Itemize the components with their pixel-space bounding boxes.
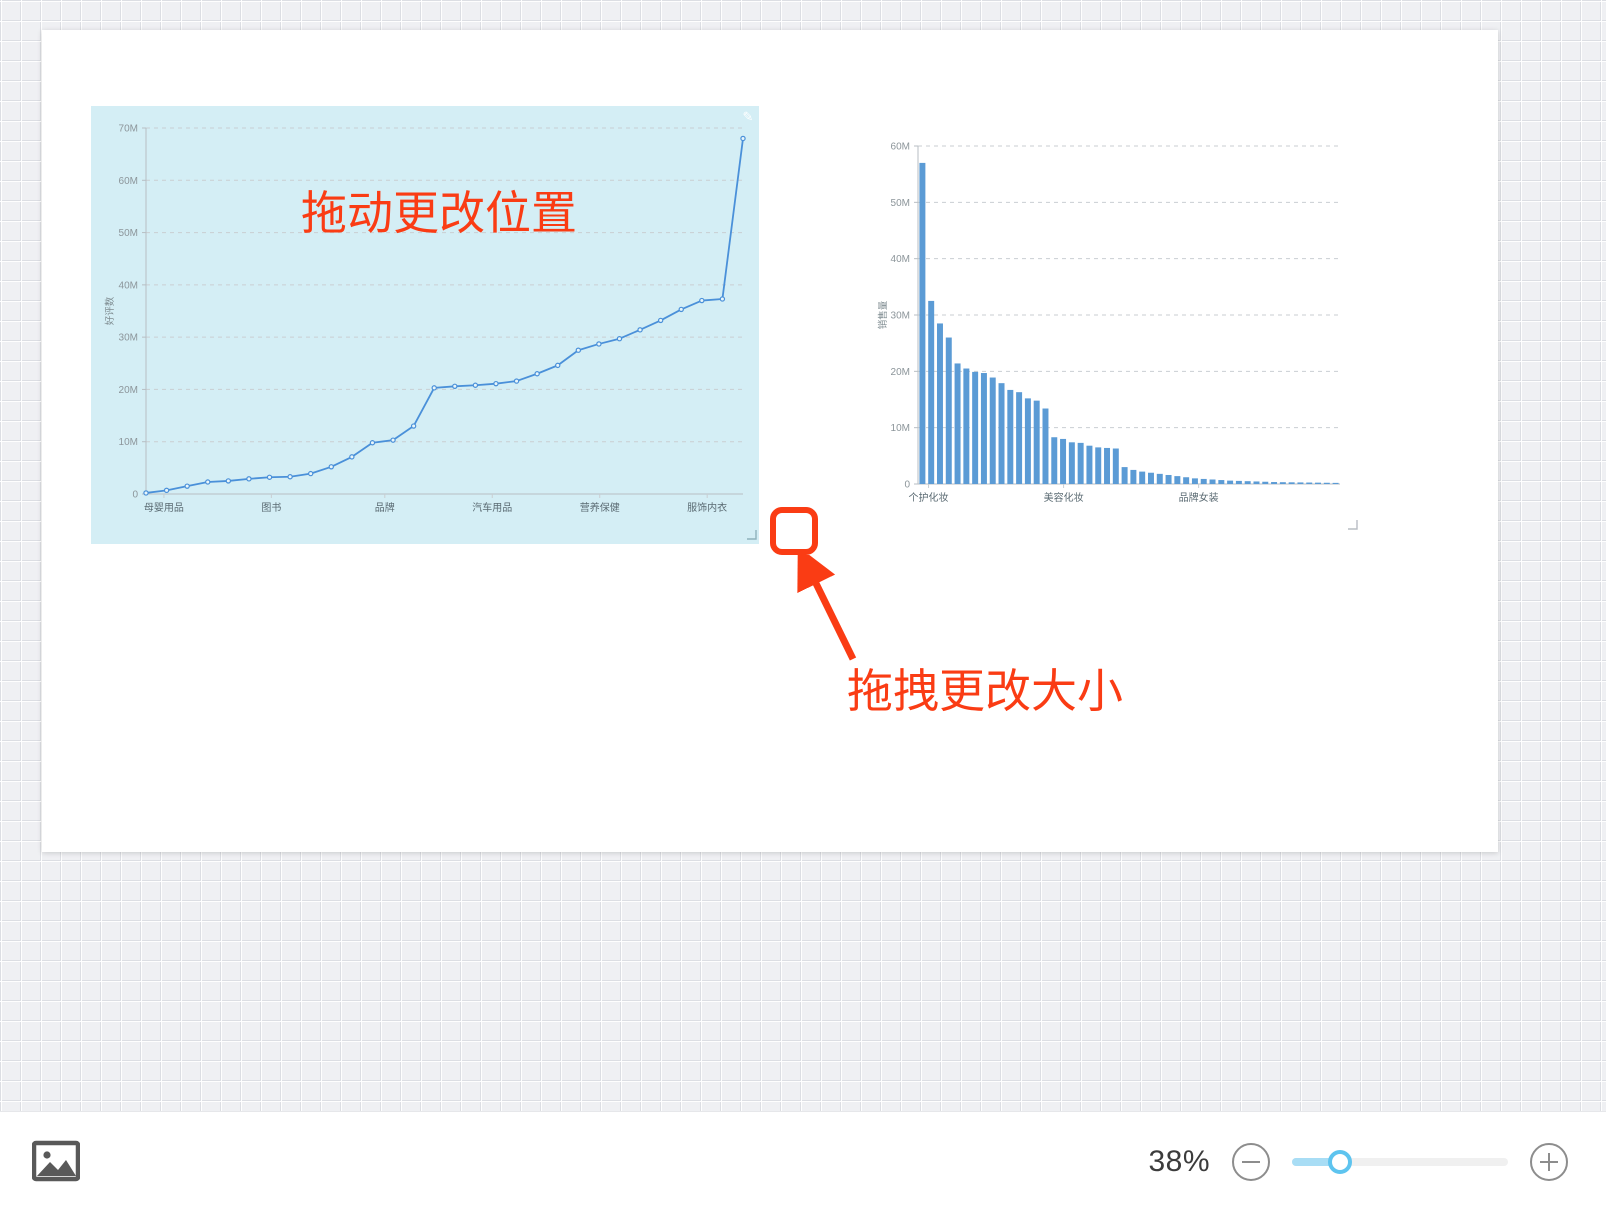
annotation-arrow xyxy=(797,555,867,665)
zoom-in-button[interactable] xyxy=(1530,1143,1568,1181)
zoom-slider[interactable] xyxy=(1292,1158,1508,1166)
canvas-page[interactable]: 010M20M30M40M50M60M70M好评数母婴用品图书品牌汽车用品营养保… xyxy=(42,30,1498,852)
image-glyph xyxy=(32,1139,80,1183)
whiteboard-app: 010M20M30M40M50M60M70M好评数母婴用品图书品牌汽车用品营养保… xyxy=(0,0,1606,1212)
svg-text:60M: 60M xyxy=(119,176,138,187)
chart-widget-line-selected[interactable]: 010M20M30M40M50M60M70M好评数母婴用品图书品牌汽车用品营养保… xyxy=(91,106,759,544)
bar-chart-plot: 010M20M30M40M50M60M销售量个护化妆美容化妆品牌女装 xyxy=(860,116,1360,534)
canvas-area[interactable]: 010M20M30M40M50M60M70M好评数母婴用品图书品牌汽车用品营养保… xyxy=(0,0,1606,1112)
resize-corner-icon xyxy=(745,528,757,540)
svg-text:销售量: 销售量 xyxy=(877,300,889,329)
resize-handle[interactable] xyxy=(743,528,757,542)
resize-handle-highlight-box xyxy=(770,507,818,555)
svg-text:汽车用品: 汽车用品 xyxy=(472,501,512,514)
zoom-slider-handle[interactable] xyxy=(1328,1150,1352,1174)
bar-chart-svg: 010M20M30M40M50M60M销售量个护化妆美容化妆品牌女装 xyxy=(860,116,1360,534)
zoom-out-button[interactable] xyxy=(1232,1143,1270,1181)
svg-text:母婴用品: 母婴用品 xyxy=(144,502,184,514)
svg-text:服饰内衣: 服饰内衣 xyxy=(687,501,727,514)
line-chart-svg: 010M20M30M40M50M60M70M好评数母婴用品图书品牌汽车用品营养保… xyxy=(91,106,759,544)
svg-text:30M: 30M xyxy=(119,333,138,344)
svg-text:50M: 50M xyxy=(891,198,910,209)
annotation-drag-to-move: 拖动更改位置 xyxy=(301,177,577,243)
svg-text:20M: 20M xyxy=(891,367,910,378)
svg-text:10M: 10M xyxy=(891,423,910,434)
svg-text:40M: 40M xyxy=(891,254,910,265)
svg-text:0: 0 xyxy=(132,490,138,501)
annotation-drag-to-resize: 拖拽更改大小 xyxy=(847,655,1123,721)
svg-text:图书: 图书 xyxy=(261,502,281,514)
svg-text:20M: 20M xyxy=(119,385,138,396)
resize-corner-icon xyxy=(1346,518,1358,530)
bottom-toolbar: 38% xyxy=(0,1111,1606,1212)
svg-text:好评数: 好评数 xyxy=(104,296,116,325)
image-icon[interactable] xyxy=(32,1139,80,1183)
zoom-percent-label: 38% xyxy=(1148,1145,1210,1179)
svg-text:50M: 50M xyxy=(119,228,138,239)
svg-text:营养保健: 营养保健 xyxy=(580,501,620,514)
svg-text:品牌女装: 品牌女装 xyxy=(1179,491,1219,504)
svg-text:0: 0 xyxy=(904,480,910,491)
svg-text:10M: 10M xyxy=(119,437,138,448)
svg-text:70M: 70M xyxy=(119,124,138,135)
svg-text:美容化妆: 美容化妆 xyxy=(1044,491,1084,504)
svg-text:个护化妆: 个护化妆 xyxy=(909,491,949,504)
svg-text:品牌: 品牌 xyxy=(375,501,395,514)
zoom-controls: 38% xyxy=(1148,1112,1568,1212)
resize-handle[interactable] xyxy=(1344,518,1358,532)
chart-widget-bar[interactable]: 010M20M30M40M50M60M销售量个护化妆美容化妆品牌女装 xyxy=(860,116,1360,534)
svg-text:40M: 40M xyxy=(119,280,138,291)
svg-text:60M: 60M xyxy=(891,142,910,153)
edit-pencil-icon[interactable]: ✎ xyxy=(740,109,756,125)
svg-text:30M: 30M xyxy=(891,311,910,322)
line-chart-plot: 010M20M30M40M50M60M70M好评数母婴用品图书品牌汽车用品营养保… xyxy=(91,106,759,544)
